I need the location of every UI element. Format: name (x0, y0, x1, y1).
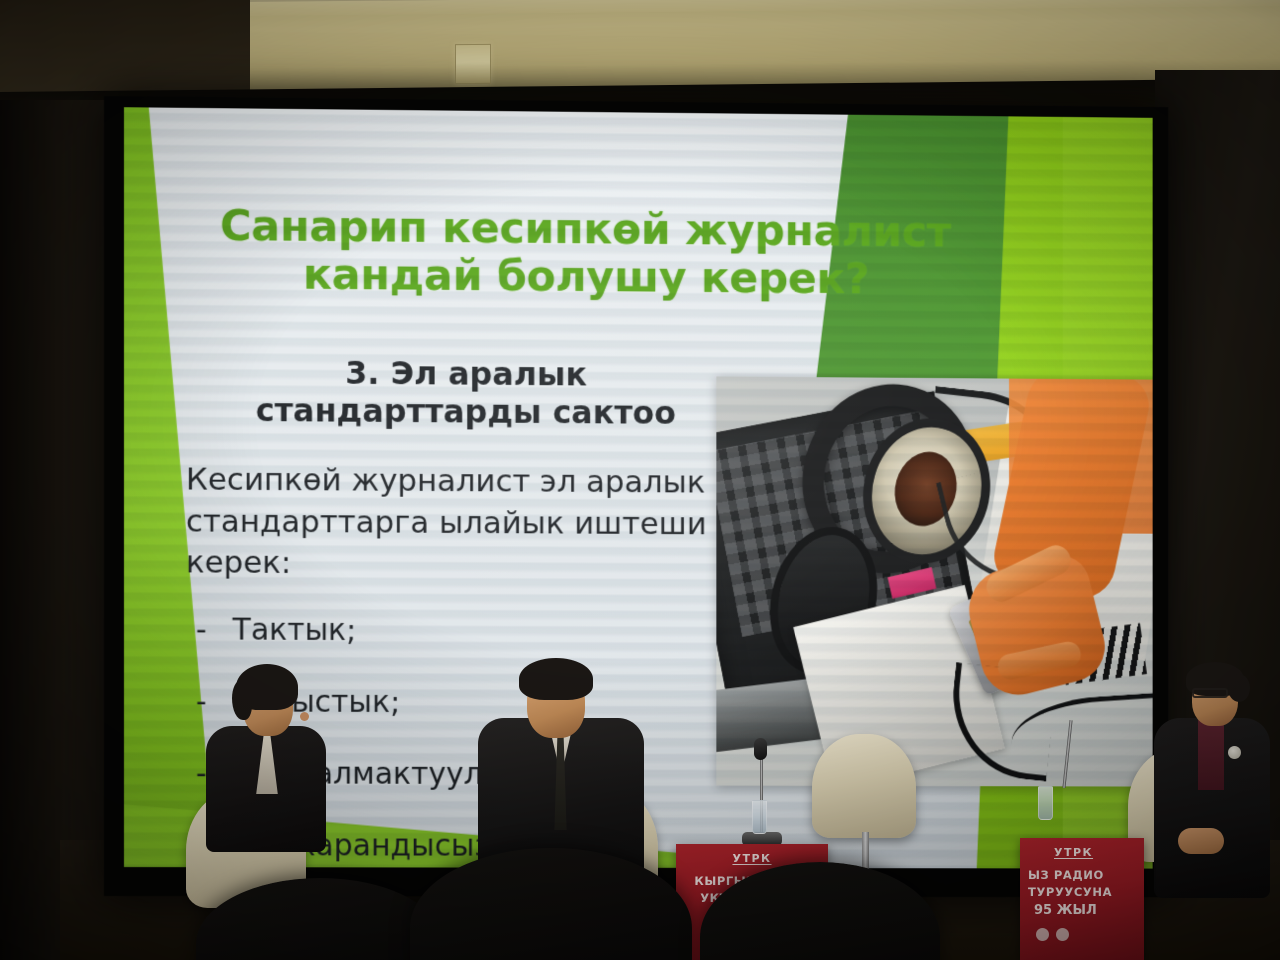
water-glass-left (752, 800, 767, 834)
sponsor-logo-icon (1056, 928, 1069, 941)
panelist-right-hands (1178, 828, 1224, 854)
ceiling-light-fixture (455, 44, 491, 84)
slide-title: Санарип кесипкөй журналист кандай болушу… (210, 202, 961, 304)
sponsor-logo-icon (1036, 928, 1049, 941)
panelist-right-hair-bun (1228, 674, 1250, 702)
stage-panel-area: УТРК КЫРГЫЗ РАДИО УКТУРУУСУНА 95 ЖЫЛ 1 K… (0, 660, 1280, 960)
slide-paragraph: Кесипкөй журналист эл аралык стандарттар… (186, 460, 712, 587)
panelist-right-glasses (1192, 688, 1228, 698)
slide-subheading: 3. Эл аралык стандарттарды сактоо (198, 353, 733, 433)
panelist-left-lapel-pin (300, 712, 309, 721)
microphone-head (754, 738, 767, 760)
panelist-left-hair-side (232, 680, 252, 720)
banner-line-1: ЫЗ РАДИО (1028, 868, 1144, 882)
bullet-marker: - (196, 615, 207, 645)
banner-brand: УТРК (1054, 846, 1144, 859)
banner-line-2: ТУРУУСУНА (1028, 885, 1144, 899)
panelist-right-badge (1228, 746, 1241, 759)
panelist-right-burgundy-top (1198, 718, 1224, 790)
banner-logo-row (1036, 928, 1144, 941)
banner-line-3: 95 ЖЫЛ (1034, 903, 1144, 918)
microphone-stem-right (1062, 720, 1072, 788)
bullet-label: Тактык; (233, 616, 357, 646)
list-item: - Тактык; (196, 615, 712, 647)
chair-empty (812, 734, 916, 838)
water-glass-right (1038, 786, 1053, 820)
banner-podium-right: УТРК ЫЗ РАДИО ТУРУУСУНА 95 ЖЫЛ (1020, 838, 1144, 960)
panelist-center-hair (519, 658, 593, 700)
conference-room-scene: Санарип кесипкөй журналист кандай болушу… (0, 0, 1280, 960)
